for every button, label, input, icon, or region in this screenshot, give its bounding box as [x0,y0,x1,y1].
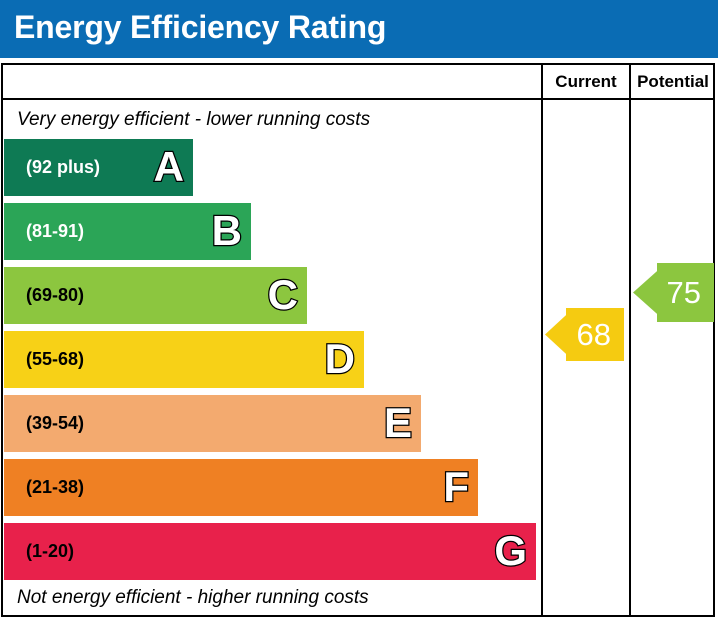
band-range-label: (69-80) [26,267,84,324]
caption-very-efficient: Very energy efficient - lower running co… [17,108,370,132]
band-letter-g: G [494,523,527,580]
band-range-label: (21-38) [26,459,84,516]
rating-band-g: (1-20)G [4,523,536,580]
band-letter-d: D [325,331,355,388]
rating-band-a: (92 plus)A [4,139,193,196]
band-range-label: (39-54) [26,395,84,452]
header-row-divider [1,98,715,100]
rating-band-b: (81-91)B [4,203,251,260]
potential-rating-arrow: 75 [633,263,714,322]
caption-not-efficient: Not energy efficient - higher running co… [17,586,369,610]
energy-efficiency-rating-chart: Energy Efficiency Rating Current Potenti… [0,0,718,619]
band-range-label: (1-20) [26,523,74,580]
rating-band-c: (69-80)C [4,267,307,324]
band-letter-a: A [154,139,184,196]
band-range-label: (55-68) [26,331,84,388]
band-letter-e: E [384,395,412,452]
page-title: Energy Efficiency Rating [14,9,386,46]
column-header-current: Current [543,71,629,93]
title-banner: Energy Efficiency Rating [0,0,718,58]
potential-rating-arrow-value: 75 [667,263,701,322]
current-column-divider [541,63,543,617]
rating-band-e: (39-54)E [4,395,421,452]
band-letter-f: F [443,459,469,516]
rating-band-f: (21-38)F [4,459,478,516]
band-range-label: (92 plus) [26,139,100,196]
current-rating-arrow: 68 [545,308,624,361]
band-letter-c: C [268,267,298,324]
column-header-potential: Potential [631,71,715,93]
potential-column-divider [629,63,631,617]
band-range-label: (81-91) [26,203,84,260]
band-letter-b: B [212,203,242,260]
current-rating-arrow-value: 68 [577,308,611,361]
rating-band-d: (55-68)D [4,331,364,388]
